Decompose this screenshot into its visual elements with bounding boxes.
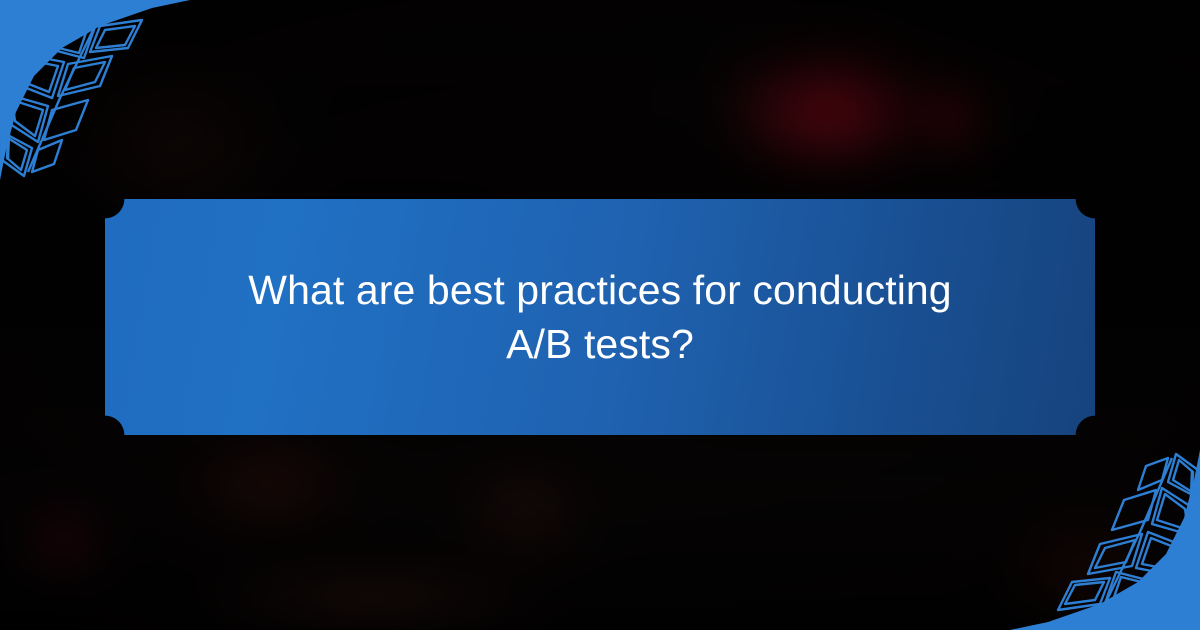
corner-ornament-bottom-right-icon xyxy=(1010,450,1200,630)
question-card: What are best practices for conducting A… xyxy=(105,199,1095,435)
question-card-content: What are best practices for conducting A… xyxy=(105,199,1095,435)
question-text: What are best practices for conducting A… xyxy=(220,263,980,371)
og-card-canvas: What are best practices for conducting A… xyxy=(0,0,1200,630)
corner-ornament-top-left-icon xyxy=(0,0,190,180)
